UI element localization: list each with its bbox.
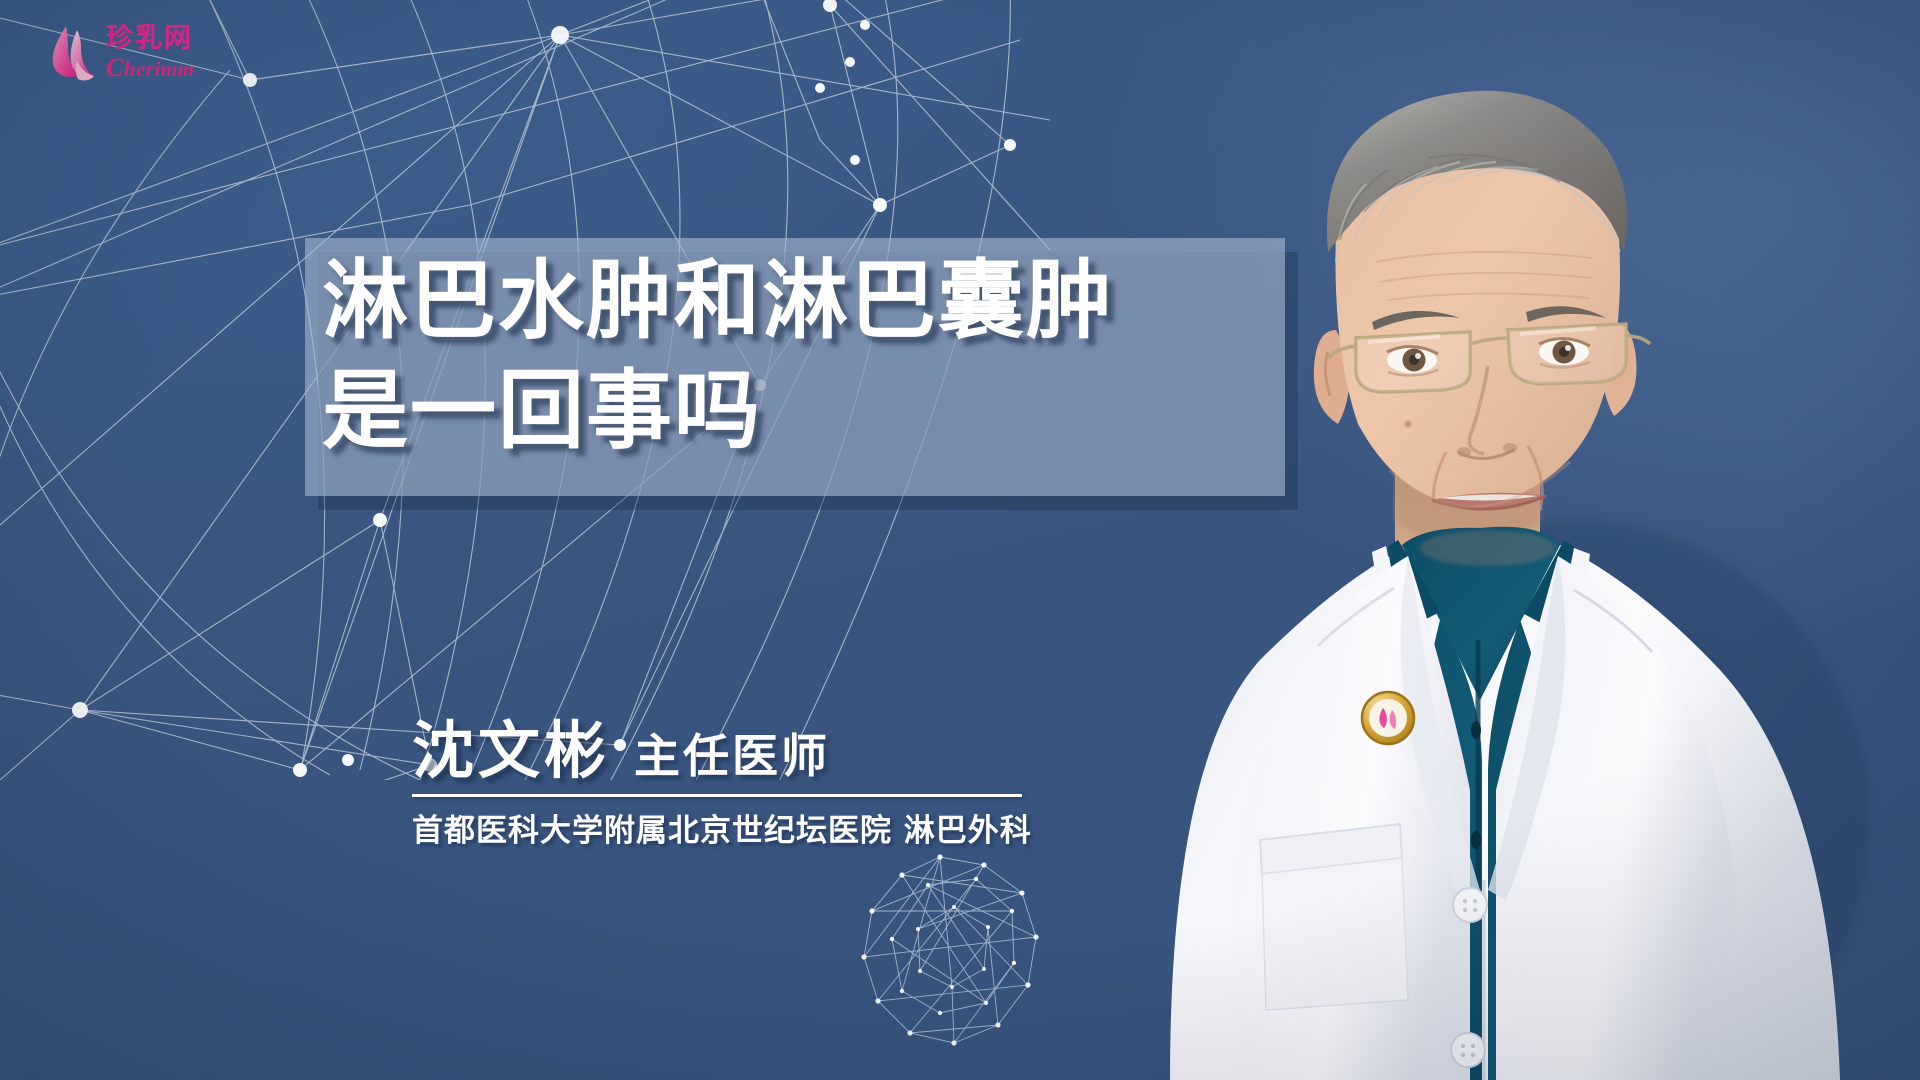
background-vignette (0, 0, 1920, 1080)
video-cover-stage: 珍乳网 Cherimm 淋巴水肿和淋巴囊肿 是一回事吗 沈文彬 主任医师 首都医… (0, 0, 1920, 1080)
